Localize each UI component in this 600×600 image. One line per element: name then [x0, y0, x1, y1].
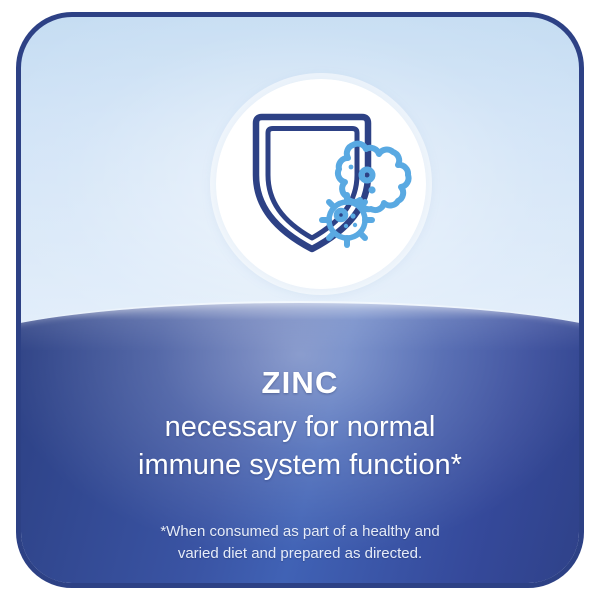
shield-outline-icon: [256, 117, 368, 249]
rounded-card: ZINC necessary for normal immune system …: [16, 12, 584, 588]
footnote-line-2: varied diet and prepared as directed.: [101, 543, 499, 565]
claim-copy-block: ZINC necessary for normal immune system …: [21, 367, 579, 485]
zinc-claim-panel: ZINC necessary for normal immune system …: [0, 0, 600, 600]
footnote-line-1: *When consumed as part of a healthy and: [101, 521, 499, 543]
footnote-block: *When consumed as part of a healthy and …: [21, 521, 579, 565]
claim-line-2: immune system function*: [21, 446, 579, 484]
shield-with-germs-icon: [226, 89, 416, 279]
claim-line-1: necessary for normal: [21, 408, 579, 446]
page-title: ZINC: [21, 367, 579, 398]
